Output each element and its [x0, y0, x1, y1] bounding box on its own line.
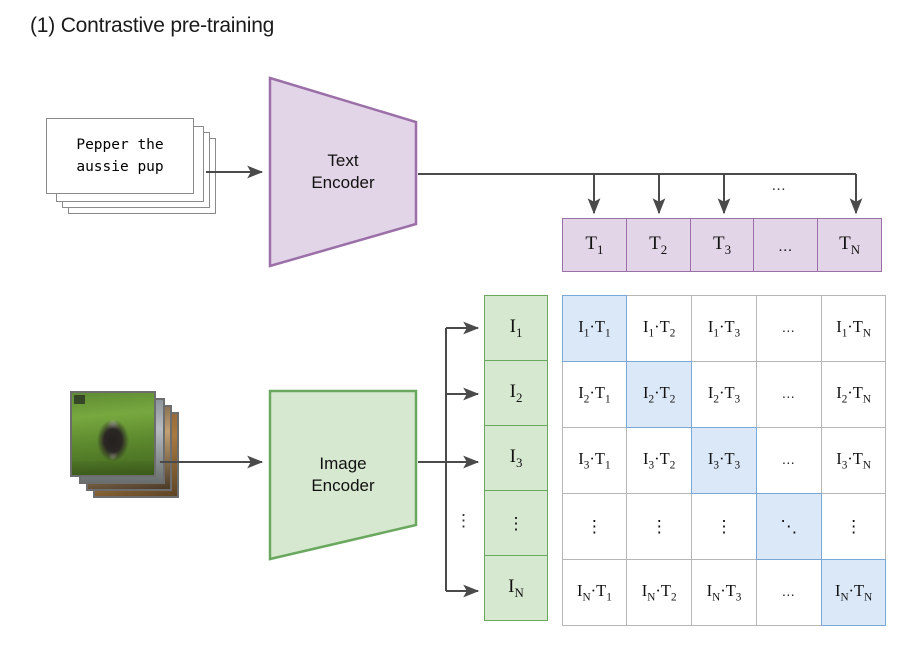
text-embedding-cell-2: T2 — [626, 218, 691, 272]
matrix-cell-3-N: I3·TN — [821, 427, 887, 494]
image-encoder-label: Image Encoder — [311, 453, 374, 497]
matrix-cell-⋮-1: ⋮ — [562, 493, 628, 560]
text-embedding-cell-N: TN — [817, 218, 882, 272]
matrix-cell-2-1: I2·T1 — [562, 361, 628, 428]
matrix-cell-1-N: I1·TN — [821, 295, 887, 362]
image-encoder-label-line2: Encoder — [311, 475, 374, 497]
matrix-cell-1-...: ... — [756, 295, 822, 362]
text-embedding-cell-1: T1 — [562, 218, 627, 272]
matrix-cell-N-N: IN·TN — [821, 559, 887, 626]
matrix-cell-2-...: ... — [756, 361, 822, 428]
similarity-matrix: I1·T1I1·T2I1·T3...I1·TNI2·T1I2·T2I2·T3..… — [562, 295, 886, 625]
text-embedding-cell-ellipsis: ... — [753, 218, 818, 272]
text-encoder-label-line1: Text — [311, 150, 374, 172]
diagram-canvas: (1) Contrastive pre-training Pepper the … — [0, 0, 906, 654]
image-bus-ellipsis: ⋮ — [455, 511, 472, 531]
image-embedding-cell-2: I2 — [484, 360, 548, 426]
matrix-cell-2-2: I2·T2 — [626, 361, 692, 428]
image-embedding-cell-ellipsis: ⋮ — [484, 490, 548, 556]
image-encoder-label-line1: Image — [311, 453, 374, 475]
matrix-cell-2-3: I2·T3 — [691, 361, 757, 428]
matrix-cell-N-3: IN·T3 — [691, 559, 757, 626]
text-encoder-label: Text Encoder — [311, 150, 374, 194]
image-embedding-cell-N: IN — [484, 555, 548, 621]
text-encoder-label-line2: Encoder — [311, 172, 374, 194]
image-embedding-column: I1I2I3⋮IN — [484, 295, 548, 621]
matrix-cell-1-2: I1·T2 — [626, 295, 692, 362]
matrix-cell-1-3: I1·T3 — [691, 295, 757, 362]
matrix-cell-3-3: I3·T3 — [691, 427, 757, 494]
text-embedding-cell-3: T3 — [690, 218, 755, 272]
image-embedding-cell-3: I3 — [484, 425, 548, 491]
text-bus-ellipsis: ... — [772, 178, 786, 195]
matrix-cell-⋮-N: ⋮ — [821, 493, 887, 560]
matrix-cell-N-1: IN·T1 — [562, 559, 628, 626]
matrix-cell-⋮-3: ⋮ — [691, 493, 757, 560]
text-embedding-row: T1T2T3...TN — [562, 218, 882, 272]
matrix-cell-2-N: I2·TN — [821, 361, 887, 428]
matrix-cell-⋮-...: ⋱ — [756, 493, 822, 560]
matrix-cell-N-2: IN·T2 — [626, 559, 692, 626]
matrix-cell-3-2: I3·T2 — [626, 427, 692, 494]
matrix-cell-3-1: I3·T1 — [562, 427, 628, 494]
image-embedding-cell-1: I1 — [484, 295, 548, 361]
matrix-cell-⋮-2: ⋮ — [626, 493, 692, 560]
matrix-cell-N-...: ... — [756, 559, 822, 626]
matrix-cell-3-...: ... — [756, 427, 822, 494]
matrix-cell-1-1: I1·T1 — [562, 295, 628, 362]
